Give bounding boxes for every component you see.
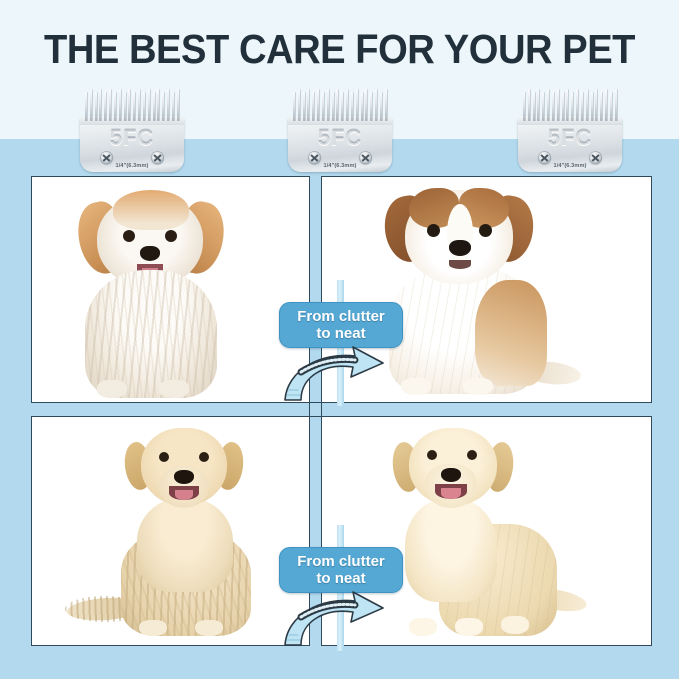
blade-teeth [523, 89, 617, 121]
blade-size-label: 1/4"(6.3mm) [512, 163, 628, 169]
dog-illustration-scruffy-terrier [61, 188, 241, 398]
blade-model-label: 5FC [74, 125, 190, 151]
blade-model-label: 5FC [282, 125, 398, 151]
callout-badge: From clutter to neat [279, 547, 403, 593]
blade-teeth [293, 89, 387, 121]
transition-callout-1: From clutter to neat [265, 288, 415, 408]
page-title: THE BEST CARE FOR YOUR PET [24, 26, 655, 73]
divider-line-bottom [31, 416, 652, 417]
dog-illustration-shaggy-golden-retriever [85, 426, 275, 640]
blade-teeth [85, 89, 179, 121]
callout-badge: From clutter to neat [279, 302, 403, 348]
clipper-blade-2: 5FC 1/4"(6.3mm) [282, 84, 398, 172]
product-infographic: THE BEST CARE FOR YOUR PET 5FC 1/4"(6.3m… [0, 0, 679, 679]
callout-line-1: From clutter [297, 308, 385, 325]
curved-arrow-icon [271, 344, 409, 410]
curved-arrow-icon [271, 589, 409, 655]
blade-model-label: 5FC [512, 125, 628, 151]
clipper-blade-1: 5FC 1/4"(6.3mm) [74, 84, 190, 172]
blade-size-label: 1/4"(6.3mm) [74, 163, 190, 169]
callout-line-2: to neat [316, 570, 365, 587]
callout-line-2: to neat [316, 325, 365, 342]
transition-callout-2: From clutter to neat [265, 533, 415, 653]
blade-size-label: 1/4"(6.3mm) [282, 163, 398, 169]
callout-line-1: From clutter [297, 553, 385, 570]
clipper-blade-3: 5FC 1/4"(6.3mm) [512, 84, 628, 172]
